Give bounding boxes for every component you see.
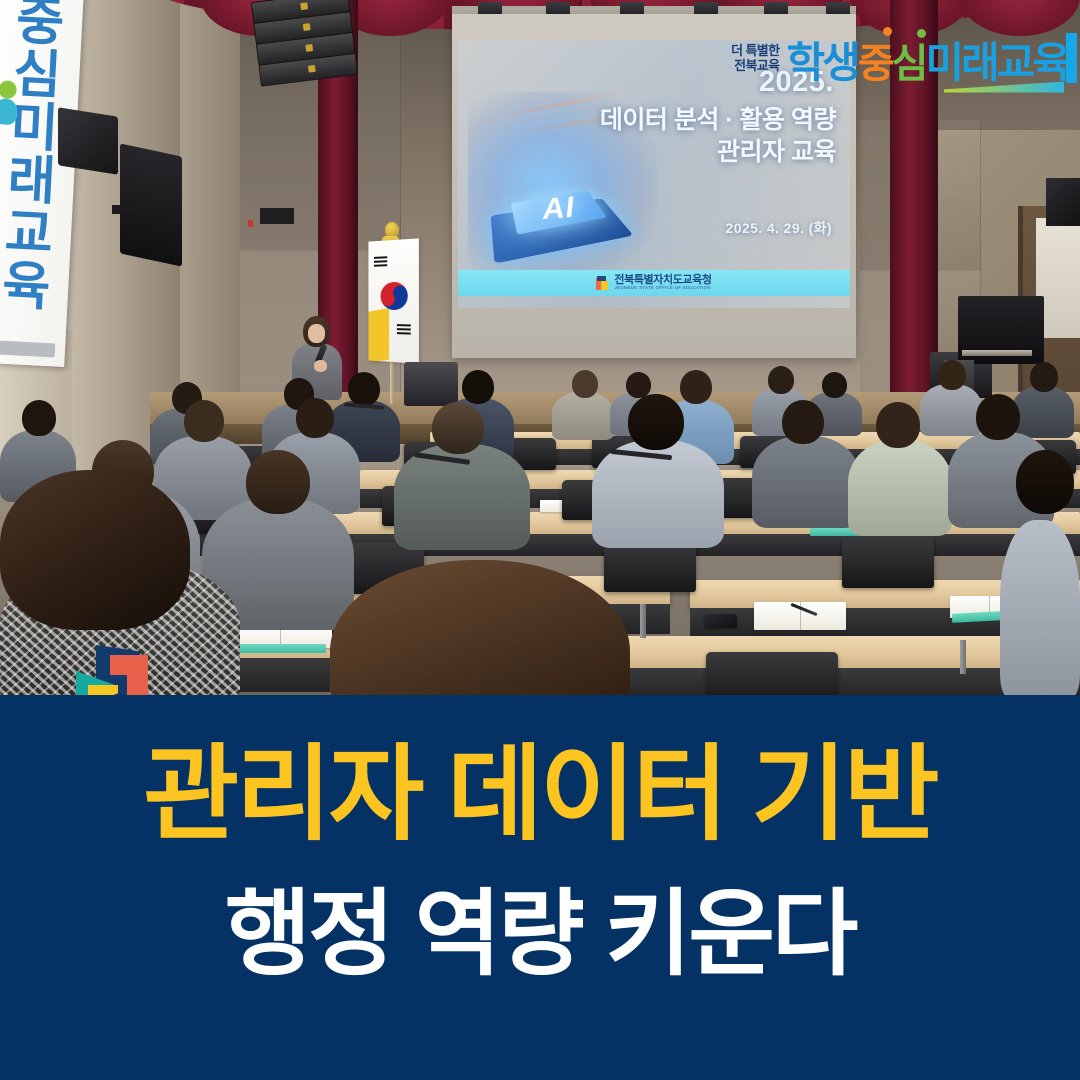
headline-line-1: 관리자 데이터 기반 [0, 743, 1080, 847]
brand-word-sim: 심 [892, 31, 926, 89]
slide-footer-bar: 전북특별자치도교육청 JEONBUK STATE OFFICE OF EDUCA… [458, 270, 850, 296]
headline-line-2: 행정 역량 키운다 [0, 887, 1080, 981]
ai-label: AI [518, 189, 600, 228]
brand-word-miraegyoyuk: 미래교육 [925, 29, 1068, 90]
brand-logo-wordmark: 학생 중 심 미래교육 [787, 29, 1068, 90]
slide-footer-org-en: JEONBUK STATE OFFICE OF EDUCATION [614, 286, 711, 290]
lectern [404, 362, 458, 406]
chair [842, 536, 934, 588]
monitor-mount [112, 205, 134, 214]
desk-leg [960, 640, 966, 674]
smartphone [704, 614, 737, 628]
chair [706, 652, 838, 700]
event-photo: 중심미래교육 [0, 0, 1080, 700]
brand-word-haksaeng: 학생 [787, 29, 858, 90]
slide-title-line1: 데이터 분석 · 활용 역량 [600, 100, 836, 136]
banner-base [0, 340, 55, 358]
wall-speaker-right [1046, 178, 1080, 226]
brand-subtext-line1: 더 특별한 [731, 44, 779, 59]
line-array-speaker [251, 0, 357, 94]
wall-sign [260, 208, 294, 224]
slide-title-line2: 관리자 교육 [717, 132, 836, 168]
slide-footer-emblem-icon [596, 276, 609, 290]
brand-logo-subtext: 더 특별한 전북교육 [731, 44, 779, 73]
brand-word-jung: 중 [858, 31, 892, 89]
social-card: 중심미래교육 [0, 0, 1080, 1080]
fire-alarm-icon [248, 220, 253, 227]
piano-keyboard [962, 350, 1032, 356]
slide-date: 2025. 4. 29. (화) [726, 218, 832, 238]
brand-figure-orange-icon [883, 27, 892, 36]
korean-flag [368, 238, 418, 363]
headline-band: 관리자 데이터 기반 행정 역량 키운다 [0, 695, 1080, 1080]
desk-leg [640, 604, 646, 638]
brand-subtext-line2: 전북교육 [731, 59, 779, 74]
document-folder [230, 644, 326, 653]
wall-speaker [58, 107, 118, 175]
brand-logo: 더 특별한 전북교육 학생 중 심 미래교육 [731, 30, 1068, 88]
brand-figure-green-icon [917, 29, 926, 38]
brand-bracket-icon [1066, 33, 1077, 83]
flag-gold-drape [368, 308, 389, 362]
